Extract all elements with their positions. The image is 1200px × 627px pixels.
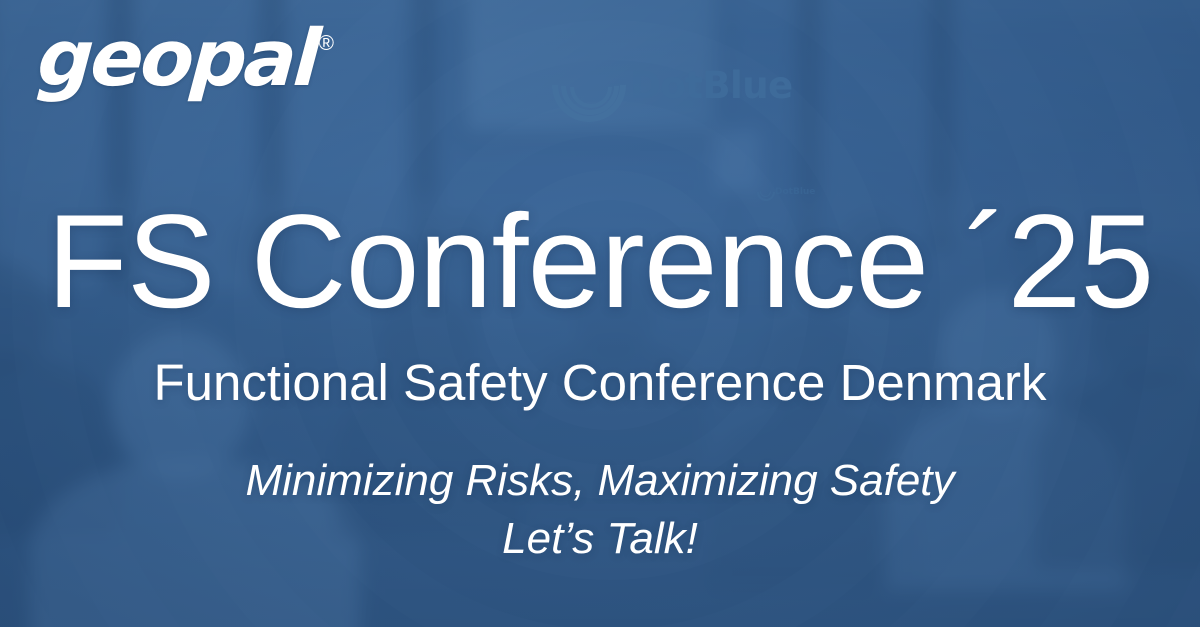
tagline-line-1: Minimizing Risks, Maximizing Safety (0, 452, 1200, 510)
tagline: Minimizing Risks, Maximizing Safety Let’… (0, 452, 1200, 568)
conference-banner: DotBlue DotBlue geopal ® FS Conference ´… (0, 0, 1200, 627)
registered-trademark-icon: ® (319, 32, 334, 56)
subtitle: Functional Safety Conference Denmark (0, 355, 1200, 411)
geopal-logo: geopal ® (38, 22, 334, 96)
headline-title: FS Conference ´25 (0, 196, 1200, 329)
dotblue-logo: DotBlue (552, 48, 793, 122)
dotblue-logo-text: DotBlue (630, 64, 793, 107)
geopal-logo-text: geopal (35, 22, 320, 96)
tagline-line-2: Let’s Talk! (0, 510, 1200, 568)
dotblue-arcs-icon (552, 48, 626, 122)
